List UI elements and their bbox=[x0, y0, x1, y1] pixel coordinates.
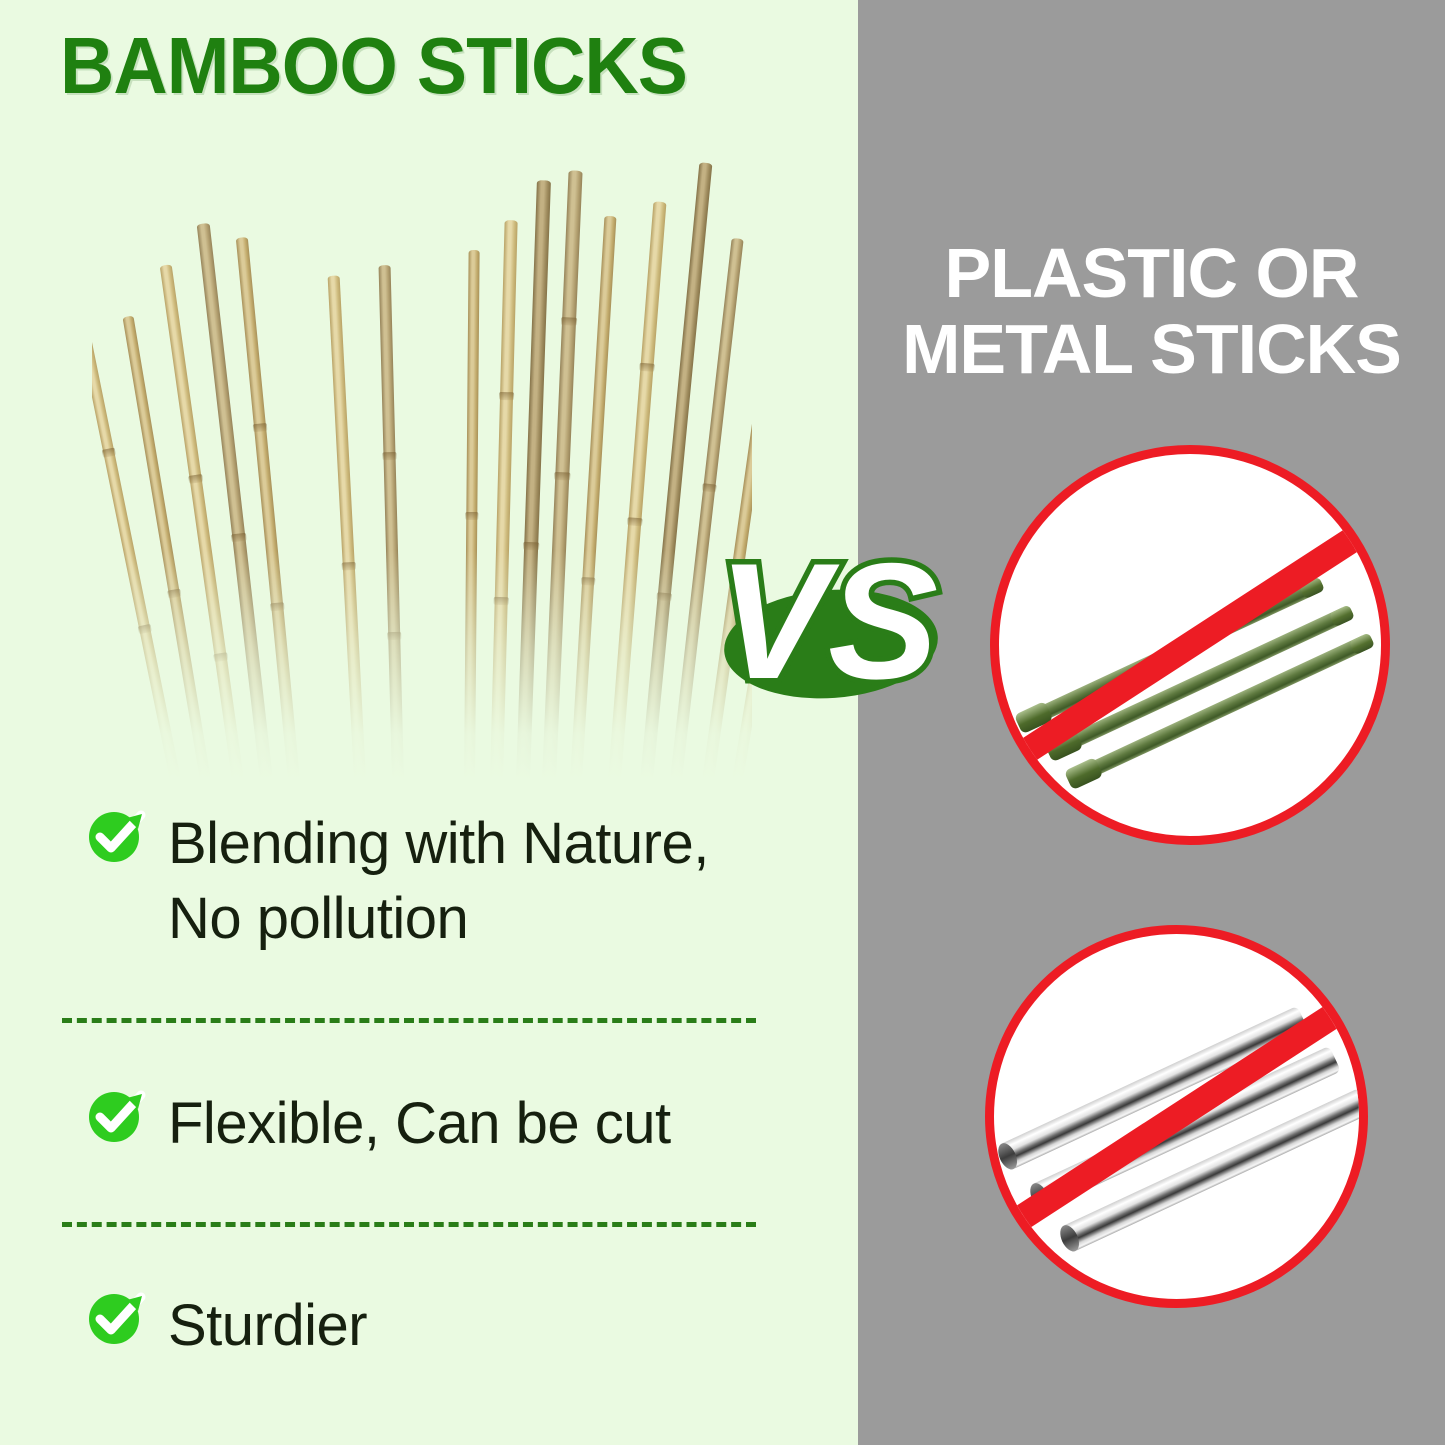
prohibition-sign-metal-tubes bbox=[985, 925, 1368, 1308]
bamboo-cane bbox=[570, 216, 616, 780]
bamboo-cane bbox=[490, 220, 518, 780]
feature-row-2: Flexible, Can be cut bbox=[86, 1086, 671, 1161]
bamboo-node bbox=[188, 474, 203, 484]
product-comparison-infographic: BAMBOO STICKS Blending with Nature, No p… bbox=[0, 0, 1445, 1445]
bamboo-node bbox=[231, 533, 247, 543]
bamboo-sticks-photo bbox=[92, 150, 752, 780]
bamboo-node bbox=[465, 512, 478, 520]
feature-label: Flexible, Can be cut bbox=[168, 1086, 671, 1161]
bamboo-cane bbox=[328, 275, 366, 780]
vs-letters: VS bbox=[716, 528, 946, 710]
bamboo-node bbox=[138, 624, 152, 634]
bamboo-node bbox=[102, 447, 116, 457]
check-circle-icon bbox=[86, 1086, 146, 1146]
prohibition-sign-plastic-stakes bbox=[990, 445, 1390, 845]
check-circle-icon bbox=[86, 806, 146, 866]
vs-badge-icon: VS bbox=[716, 528, 946, 710]
bamboo-cane bbox=[464, 250, 480, 780]
feature-label: Blending with Nature, No pollution bbox=[168, 806, 709, 957]
bamboo-node bbox=[523, 542, 539, 551]
bamboo-node bbox=[342, 562, 356, 571]
bamboo-node bbox=[382, 452, 396, 460]
heading-line-2: METAL STICKS bbox=[858, 312, 1445, 388]
feature-row-3: Sturdier bbox=[86, 1288, 367, 1363]
bamboo-node bbox=[167, 589, 181, 599]
left-panel-bamboo: BAMBOO STICKS Blending with Nature, No p… bbox=[0, 0, 858, 1445]
bamboo-node bbox=[702, 483, 717, 493]
bamboo-node bbox=[581, 577, 595, 586]
check-circle-icon bbox=[86, 1288, 146, 1348]
heading-line-1: PLASTIC OR bbox=[858, 236, 1445, 312]
bamboo-node bbox=[561, 317, 577, 326]
bamboo-node bbox=[554, 472, 570, 481]
bamboo-node bbox=[253, 423, 268, 432]
bamboo-node bbox=[270, 602, 285, 611]
feature-row-1: Blending with Nature, No pollution bbox=[86, 806, 709, 957]
page-title: BAMBOO STICKS bbox=[60, 26, 687, 106]
bamboo-node bbox=[387, 632, 401, 640]
divider-2 bbox=[62, 1222, 756, 1227]
right-panel-heading: PLASTIC OR METAL STICKS bbox=[858, 236, 1445, 387]
feature-label: Sturdier bbox=[168, 1288, 367, 1363]
svg-text:VS: VS bbox=[718, 529, 938, 710]
bamboo-cane bbox=[236, 237, 300, 780]
bamboo-node bbox=[627, 517, 643, 526]
bamboo-node bbox=[213, 652, 228, 662]
bamboo-node bbox=[656, 592, 672, 601]
bamboo-cane bbox=[379, 265, 404, 780]
bamboo-node bbox=[499, 392, 514, 400]
bamboo-node bbox=[639, 363, 655, 372]
divider-1 bbox=[62, 1018, 756, 1023]
bamboo-node bbox=[494, 597, 509, 605]
